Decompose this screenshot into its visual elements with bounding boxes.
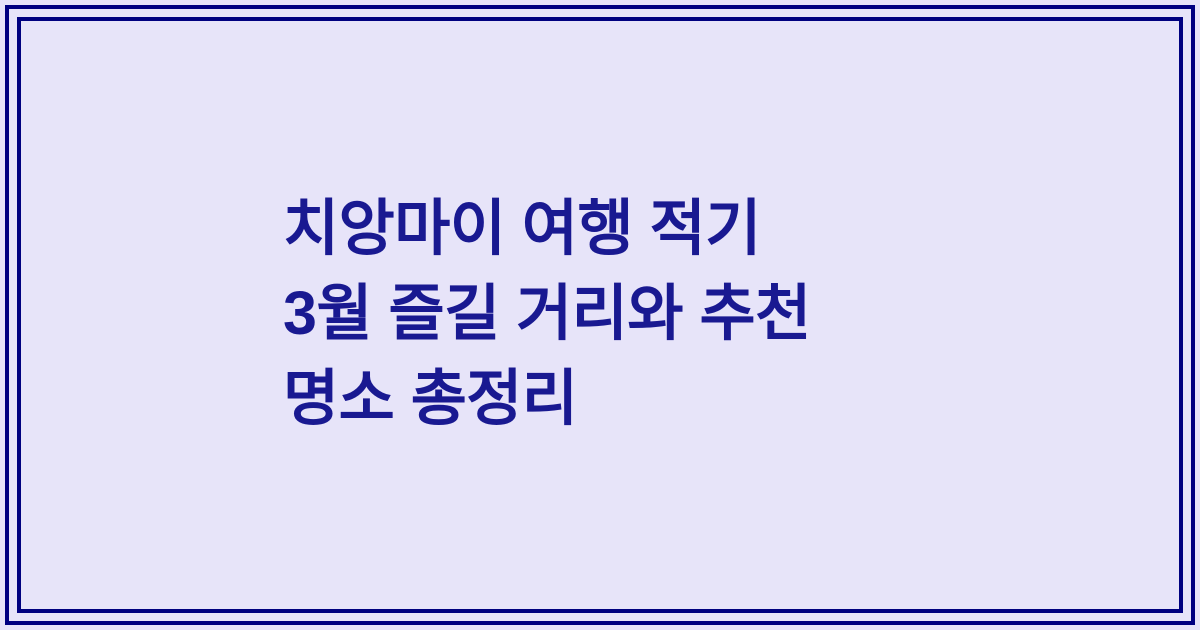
thumbnail-card: 치앙마이 여행 적기 3월 즐길 거리와 추천 명소 총정리 (0, 0, 1200, 630)
title-line-1: 치앙마이 여행 적기 (283, 186, 1003, 271)
title-line-3: 명소 총정리 (283, 356, 1003, 441)
page-title: 치앙마이 여행 적기 3월 즐길 거리와 추천 명소 총정리 (283, 186, 1003, 441)
title-line-2: 3월 즐길 거리와 추천 (283, 271, 1003, 356)
